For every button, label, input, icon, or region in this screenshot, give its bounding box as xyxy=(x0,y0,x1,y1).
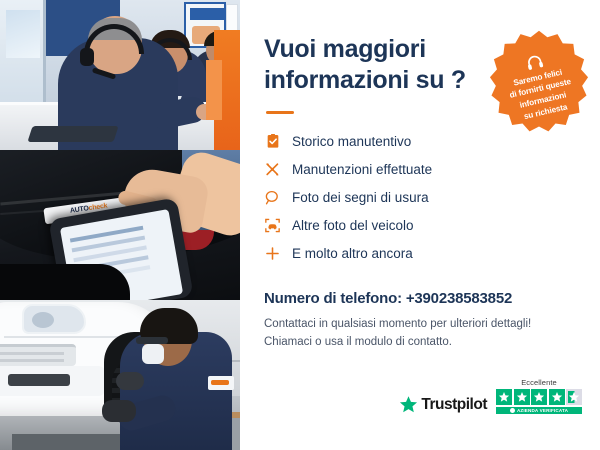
paint-inspection-photo: AUTOcheck xyxy=(0,150,240,300)
vehicle-lift-rail xyxy=(12,434,132,450)
tools-cross-icon xyxy=(264,161,281,178)
contact-subtext: Contattaci in qualsiasi momento per ulte… xyxy=(264,316,574,352)
star-filled xyxy=(514,389,530,405)
call-centre-photo xyxy=(0,0,240,150)
callout-badge: Saremo felici di fornirti queste informa… xyxy=(484,28,594,138)
mechanic-glove-upper xyxy=(116,372,144,390)
verified-badge: AZIENDA VERIFICATA xyxy=(496,407,582,414)
title-divider xyxy=(266,111,294,114)
list-item-label: Altre foto del veicolo xyxy=(292,218,414,233)
mechanic-safety-glasses xyxy=(136,337,168,344)
wheel-arch-shadow xyxy=(0,264,130,300)
list-item[interactable]: E molto altro ancora xyxy=(264,240,574,266)
plus-icon xyxy=(264,245,281,262)
trustpilot-stars xyxy=(496,389,582,405)
trustpilot-widget[interactable]: Trustpilot Eccellente AZIENDA VERIFICATA xyxy=(399,378,582,414)
phone-line[interactable]: Numero di telefono: +390238583852 xyxy=(264,290,574,307)
verified-badge-label: AZIENDA VERIFICATA xyxy=(517,408,568,413)
contact-subtext-line-2: Chiamaci o usa il modulo di contatto. xyxy=(264,334,574,352)
list-item-label: Foto dei segni di usura xyxy=(292,190,429,205)
badge-text: Saremo felici di fornirti queste informa… xyxy=(506,65,578,124)
star-filled xyxy=(496,389,512,405)
trustpilot-logo: Trustpilot xyxy=(399,395,487,414)
feature-list: Storico manutentivo Manutenzioni effettu… xyxy=(264,128,574,266)
page-title: Vuoi maggiori informazioni su ? xyxy=(264,34,474,95)
list-item[interactable]: Manutenzioni effettuate xyxy=(264,156,574,182)
list-item-label: Storico manutentivo xyxy=(292,134,411,149)
trustpilot-star-icon xyxy=(399,395,418,414)
check-circle-icon xyxy=(510,408,515,413)
trustpilot-name: Trustpilot xyxy=(421,396,487,414)
list-item-label: E molto altro ancora xyxy=(292,246,413,261)
star-filled xyxy=(549,389,565,405)
wheel-inspection-photo xyxy=(0,300,240,450)
foreground-keyboard xyxy=(27,126,118,142)
star-filled xyxy=(531,389,547,405)
car-air-intake xyxy=(8,374,70,386)
clipboard-check-icon xyxy=(264,133,281,150)
promo-card: AUTOcheck xyxy=(0,0,600,450)
mechanic-uniform-badge xyxy=(208,376,234,390)
list-item-label: Manutenzioni effettuate xyxy=(292,162,432,177)
trustpilot-rating: Eccellente AZIENDA VERIFICATA xyxy=(496,378,582,414)
contact-subtext-line-1: Contattaci in qualsiasi momento per ulte… xyxy=(264,316,574,334)
car-grille xyxy=(0,344,76,366)
car-frame-icon xyxy=(264,217,281,234)
mechanic-glove-lower xyxy=(102,400,136,422)
orange-equipment xyxy=(214,30,240,150)
car-headlight xyxy=(22,304,86,334)
call-agent-headset-earpad xyxy=(80,48,94,66)
star-partial xyxy=(566,389,582,405)
mechanic-face-mask xyxy=(142,344,164,364)
info-panel: Vuoi maggiori informazioni su ? Storico … xyxy=(240,0,600,450)
list-item[interactable]: Altre foto del veicolo xyxy=(264,212,574,238)
trustpilot-rating-label: Eccellente xyxy=(521,378,557,387)
magnifier-icon xyxy=(264,189,281,206)
photo-column: AUTOcheck xyxy=(0,0,240,450)
list-item[interactable]: Foto dei segni di usura xyxy=(264,184,574,210)
